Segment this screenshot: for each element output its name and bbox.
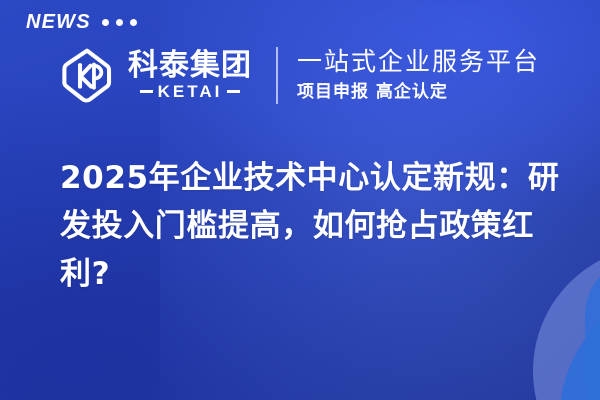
tagline-sub: 项目申报 高企认定 [297, 81, 540, 103]
brand-logo: 科泰集团 KETAI [58, 46, 252, 104]
brand-name-en-row: KETAI [140, 83, 241, 100]
news-dots [102, 19, 137, 26]
vertical-divider [276, 47, 278, 104]
dot-icon [130, 19, 137, 26]
news-banner: NEWS 科泰集团 [0, 0, 600, 400]
news-label: NEWS [26, 12, 91, 32]
headline-text: 2025年企业技术中心认定新规：研发投入门槛提高，如何抢占政策红利? [60, 154, 560, 298]
tagline-block: 一站式企业服务平台 项目申报 高企认定 [297, 47, 540, 104]
horizontal-rule-icon [140, 90, 153, 93]
tagline-main: 一站式企业服务平台 [297, 47, 540, 77]
dot-icon [116, 19, 123, 26]
news-eyebrow: NEWS [26, 12, 137, 32]
horizontal-rule-icon [227, 90, 240, 93]
brand-name-en: KETAI [158, 83, 223, 100]
ketai-diamond-kp-monogram-icon [58, 46, 116, 104]
brand-name-cn: 科泰集团 [128, 50, 252, 81]
brand-wordmark: 科泰集团 KETAI [128, 50, 252, 100]
dot-icon [102, 19, 109, 26]
brand-header: 科泰集团 KETAI 一站式企业服务平台 项目申报 高企认定 [58, 46, 540, 104]
